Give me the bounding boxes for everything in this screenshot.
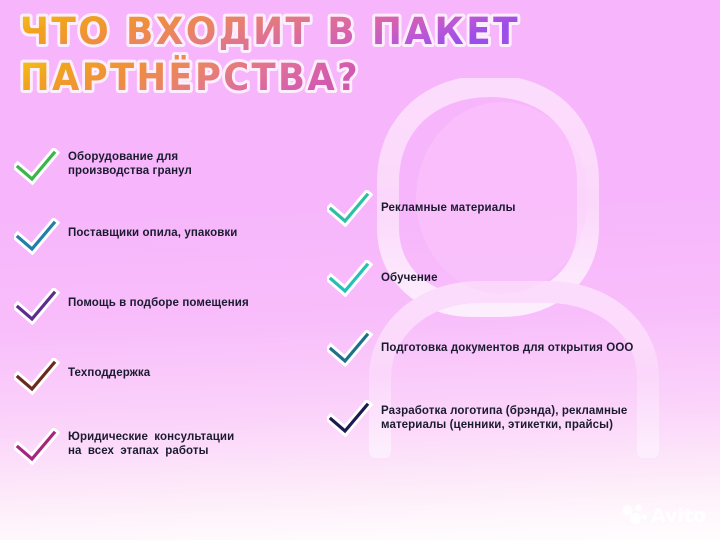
list-item: Подготовка документов для открытия ООО — [327, 330, 707, 400]
avito-watermark: Avito — [620, 502, 706, 528]
list-item: Оборудование для производства гранул — [14, 148, 314, 218]
poster-canvas: ЧТО ВХОДИТ В ПАКЕТ ЧТО ВХОДИТ В ПАКЕТ ПА… — [0, 0, 720, 540]
check-icon — [327, 400, 373, 440]
list-item-label: Оборудование для производства гранул — [68, 148, 192, 178]
list-item: Техподдержка — [14, 358, 314, 428]
check-icon — [14, 428, 60, 468]
list-item-label: Юридические консультации на всех этапах … — [68, 428, 234, 458]
list-item: Рекламные материалы — [327, 190, 707, 260]
page-title: ЧТО ВХОДИТ В ПАКЕТ ЧТО ВХОДИТ В ПАКЕТ ПА… — [18, 8, 658, 104]
avito-wordmark: Avito — [651, 505, 706, 527]
list-item: Помощь в подборе помещения — [14, 288, 314, 358]
list-item: Юридические консультации на всех этапах … — [14, 428, 314, 498]
check-icon — [327, 190, 373, 230]
list-item: Разработка логотипа (брэнда), рекламные … — [327, 400, 707, 470]
list-item-label: Помощь в подборе помещения — [68, 288, 249, 310]
check-icon — [14, 358, 60, 398]
list-item-label: Подготовка документов для открытия ООО — [381, 330, 633, 355]
check-icon — [14, 148, 60, 188]
list-item-label: Обучение — [381, 260, 438, 285]
check-icon — [14, 218, 60, 258]
benefits-list-right: Рекламные материалы Обучение Подготовка … — [327, 190, 707, 470]
benefits-list-left: Оборудование для производства гранул Пос… — [14, 148, 314, 498]
avito-logo-icon: Avito — [620, 502, 706, 528]
check-icon — [14, 288, 60, 328]
list-item-label: Рекламные материалы — [381, 190, 516, 215]
check-icon — [327, 260, 373, 300]
check-icon — [327, 330, 373, 370]
title-line1: ЧТО ВХОДИТ В ПАКЕТ — [20, 10, 520, 53]
list-item-label: Техподдержка — [68, 358, 150, 380]
list-item-label: Разработка логотипа (брэнда), рекламные … — [381, 400, 673, 432]
list-item: Обучение — [327, 260, 707, 330]
list-item-label: Поставщики опила, упаковки — [68, 218, 237, 240]
title-line2: ПАРТНЁРСТВА? — [20, 55, 360, 99]
list-item: Поставщики опила, упаковки — [14, 218, 314, 288]
